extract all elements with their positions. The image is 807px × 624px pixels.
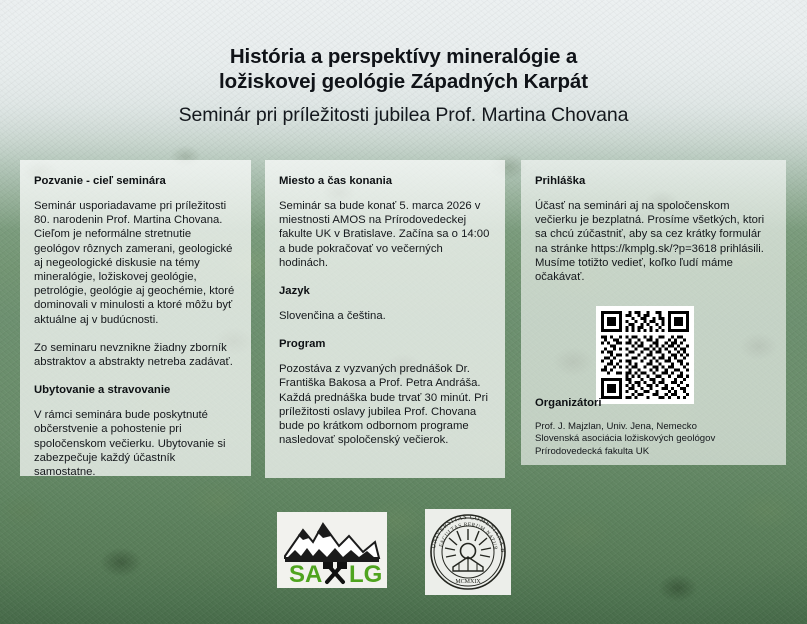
seal-year: MCMXIX — [455, 579, 481, 585]
organizers-heading: Organizátori — [535, 396, 785, 410]
accommodation-paragraph: V rámci seminára bude poskytnuté občerst… — [34, 408, 237, 479]
salg-logo-icon: SA LG — [277, 512, 387, 588]
panel-venue: Miesto a čas konania Seminár sa bude kon… — [265, 160, 505, 478]
invitation-paragraph-1: Seminár usporiadavame pri príležitosti 8… — [34, 199, 237, 327]
accommodation-heading: Ubytovanie a stravovanie — [34, 383, 237, 397]
salg-logo: SA LG — [277, 512, 387, 588]
invitation-paragraph-2: Zo seminaru nevznikne žiadny zborník abs… — [34, 341, 237, 369]
organizer-line-2: Slovenská asociácia ložiskových geológov — [535, 433, 785, 445]
page-title-line-2: ložiskovej geológie Západných Karpát — [0, 69, 807, 94]
comenius-university-seal: UNIVERSITAS COMENIANA BRATISLAVIENSIS FA… — [425, 509, 511, 595]
poster-header: História a perspektívy mineralógie a lož… — [0, 0, 807, 127]
venue-paragraph: Seminár sa bude konať 5. marca 2026 v mi… — [279, 199, 491, 270]
qr-code-icon — [601, 311, 689, 399]
university-seal-icon: UNIVERSITAS COMENIANA BRATISLAVIENSIS FA… — [425, 509, 511, 595]
program-paragraph: Pozostáva z vyzvaných prednášok Dr. Fran… — [279, 362, 491, 447]
registration-paragraph: Účasť na seminári aj na spoločenskom več… — [535, 199, 772, 284]
organizers-block: Organizátori Prof. J. Majzlan, Univ. Jen… — [535, 396, 785, 458]
organizer-line-1: Prof. J. Majzlan, Univ. Jena, Nemecko — [535, 421, 785, 433]
registration-qr-code[interactable] — [596, 306, 694, 404]
venue-heading: Miesto a čas konania — [279, 174, 491, 188]
invitation-heading: Pozvanie - cieľ seminára — [34, 174, 237, 188]
program-heading: Program — [279, 337, 491, 351]
svg-text:SA: SA — [289, 561, 322, 588]
svg-text:LG: LG — [349, 561, 382, 588]
page-subtitle: Seminár pri príležitosti jubilea Prof. M… — [0, 94, 807, 127]
poster-canvas: História a perspektívy mineralógie a lož… — [0, 0, 807, 624]
language-heading: Jazyk — [279, 284, 491, 298]
page-title-line-1: História a perspektívy mineralógie a — [0, 0, 807, 69]
organizer-line-3: Prírodovedecká fakulta UK — [535, 446, 785, 458]
panel-invitation: Pozvanie - cieľ seminára Seminár usporia… — [20, 160, 251, 476]
registration-heading: Prihláška — [535, 174, 772, 188]
language-paragraph: Slovenčina a čeština. — [279, 309, 491, 323]
